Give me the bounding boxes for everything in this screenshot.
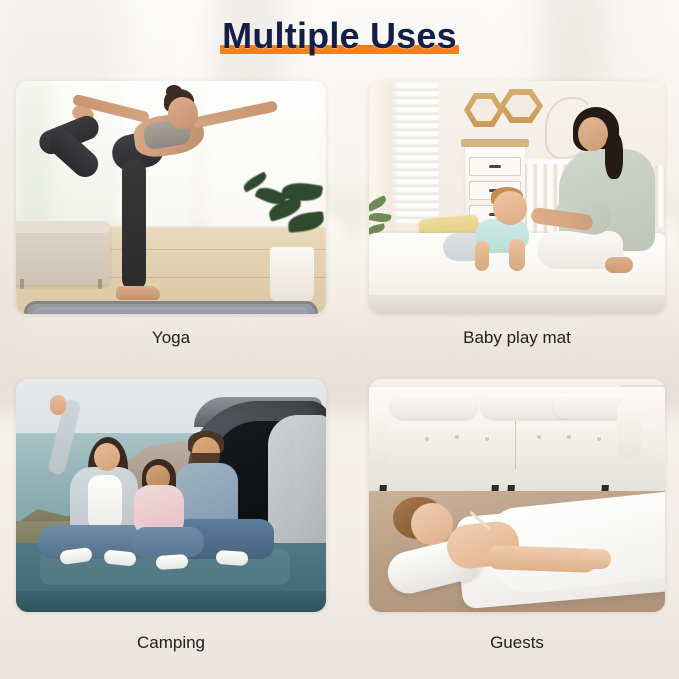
window-greenery [16,81,50,231]
dresser-top [461,139,529,147]
sofa-tuft [425,437,429,441]
mother-shirt [88,475,122,531]
tent-flap [268,415,326,555]
guests-scene [369,379,665,612]
use-case-photo-guests [369,379,665,612]
person-head [168,97,198,129]
ottoman-leg [98,279,102,289]
mother-hand [605,257,633,273]
title-block: Multiple Uses [0,14,679,58]
girl-legs [132,527,204,557]
mother-hair-strand [605,133,623,179]
sofa-tuft [567,435,571,439]
mother-head [578,117,608,151]
baby-scene [369,81,665,314]
sofa-tuft [597,437,601,441]
person-hair-bun [166,85,182,98]
sofa-tuft [537,435,541,439]
sneaker [156,554,189,570]
baby-head [493,191,527,225]
person-standing-foot [116,286,160,300]
caption-yoga: Yoga [16,328,326,348]
plant-leaf [369,211,392,224]
sofa-tuft [485,437,489,441]
caption-guests: Guests [369,633,665,653]
baby-arm [475,241,489,271]
sneaker [216,550,249,566]
camping-mat-edge [16,591,326,612]
sofa-seam [515,421,516,469]
title-inner: Multiple Uses [216,14,463,58]
ottoman-leg [20,279,24,289]
sofa-bolster [391,393,477,419]
mother-head [94,443,120,471]
yoga-mat-surface [32,307,310,314]
sofa-seat [375,421,657,469]
caption-baby-play-mat: Baby play mat [369,328,665,348]
ottoman-top [16,221,110,233]
sofa-arm [617,399,641,459]
page-title: Multiple Uses [222,15,457,56]
sleeper-head [411,503,453,545]
sofa-tuft [455,435,459,439]
camping-scene [16,379,326,612]
plant-pot [270,247,314,303]
person-standing-leg [122,159,146,291]
sleeper-hand [581,549,611,569]
mother-pointing-hand [50,395,66,415]
drawer-knob [489,165,501,168]
baby-arm [509,239,525,271]
yoga-scene [16,81,326,314]
use-case-photo-baby [369,81,665,314]
use-case-photo-yoga [16,81,326,314]
use-case-photo-camping [16,379,326,612]
mattress-edge [369,295,665,314]
caption-camping: Camping [16,633,326,653]
plant-leaf [369,195,388,212]
sofa-arm [369,403,389,469]
